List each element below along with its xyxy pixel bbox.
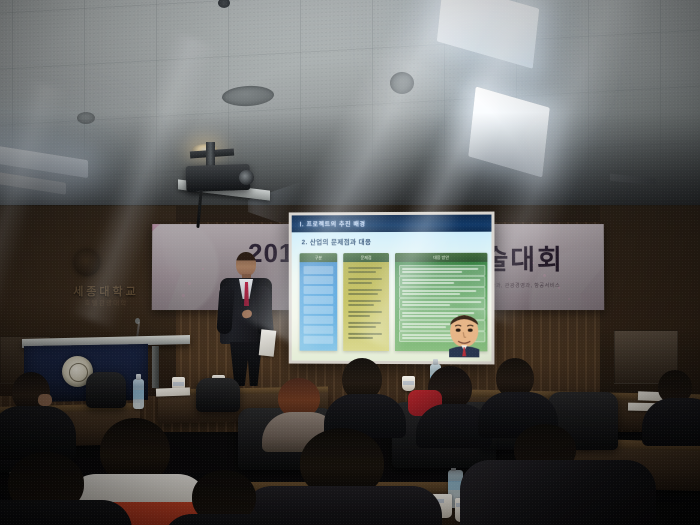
slide-chip <box>304 296 334 304</box>
slide-text-line <box>348 333 382 335</box>
slide-text-line <box>402 301 481 303</box>
slide-text-line <box>402 282 454 284</box>
podium-support-leg <box>152 346 159 388</box>
audience-member <box>0 452 112 525</box>
audience-hand <box>38 394 52 406</box>
wall-university-emblem <box>74 250 100 276</box>
slide-header-title: Ⅰ. 프로젝트의 추진 배경 <box>300 219 366 228</box>
slide-chip <box>304 326 334 334</box>
slide-chip <box>304 306 334 314</box>
audience-shoulders <box>0 500 132 525</box>
slide-chip <box>304 286 334 294</box>
handout-paper <box>156 387 190 396</box>
slide-text-line <box>402 326 446 328</box>
banner-dot <box>188 282 191 285</box>
banner-dot <box>182 294 185 297</box>
bottle-label <box>133 390 144 399</box>
audience-suit-jacket <box>460 460 656 525</box>
slide-text-line <box>348 278 382 280</box>
slide-text-line <box>402 279 480 281</box>
slide-chip <box>304 266 334 274</box>
slide-column-green-cap-label: 대응 방안 <box>395 255 487 261</box>
projection-screen: Ⅰ. 프로젝트의 추진 배경 2. 산업의 문제점과 대응 구분 문제점 <box>292 215 492 362</box>
wall-department-name: 호텔관광대학 <box>50 297 162 307</box>
slide-column-blue: 구분 <box>300 253 338 351</box>
slide-text-line <box>402 293 460 295</box>
water-bottle <box>133 379 144 409</box>
audience-shoulders <box>642 398 700 446</box>
audience-shoulders <box>162 514 298 525</box>
slide-text-line <box>348 304 374 306</box>
slide-cartoon-face-icon <box>443 311 485 357</box>
slide-text-line <box>402 304 450 306</box>
slide-text-line <box>348 326 376 328</box>
slide-text-line <box>348 267 382 269</box>
slide-section-label: 2. 산업의 문제점과 대응 <box>302 236 372 246</box>
chair-back <box>196 378 240 412</box>
audience-member <box>178 470 278 525</box>
slide-text-line <box>348 293 378 295</box>
slide-text-line <box>402 290 476 292</box>
slide-column-olive: 문제점 <box>343 253 389 351</box>
slide-text-line <box>348 289 382 291</box>
presenter <box>218 252 274 384</box>
banner-dot <box>568 298 570 300</box>
audience-member <box>330 358 396 432</box>
slide-chip <box>304 276 334 284</box>
slide-text-line <box>348 271 376 273</box>
presenter-handout <box>259 329 277 356</box>
slide-column-olive-cap-label: 문제점 <box>343 255 389 261</box>
ceiling-speaker-2 <box>390 72 414 94</box>
projector-lens-icon <box>239 170 254 185</box>
ceiling-speaker-3 <box>77 112 95 124</box>
slide-text-line <box>402 271 462 273</box>
slide-text-line <box>348 300 381 302</box>
chair-back <box>86 372 126 408</box>
audience-member <box>470 420 640 525</box>
slide-column-blue-cap-label: 구분 <box>300 255 338 261</box>
slide-text-line <box>348 315 370 317</box>
slide-chip <box>304 336 334 344</box>
slide-text-line <box>402 268 478 270</box>
banner-dot <box>202 268 204 270</box>
slide-text-line <box>348 337 373 339</box>
slide-text-line <box>348 322 381 324</box>
projection-screen-frame: Ⅰ. 프로젝트의 추진 배경 2. 산업의 문제점과 대응 구분 문제점 <box>289 212 495 365</box>
slide-chip <box>304 316 334 324</box>
lecture-hall-photo: 세종대학교 호텔관광대학 2012 학술대회 사단법인 한국호텔관광학회 · 춘… <box>0 0 700 525</box>
audience-member <box>652 370 700 440</box>
slide-text-line <box>348 282 372 284</box>
presenter-head <box>236 252 256 276</box>
slide-text-line <box>348 311 382 313</box>
